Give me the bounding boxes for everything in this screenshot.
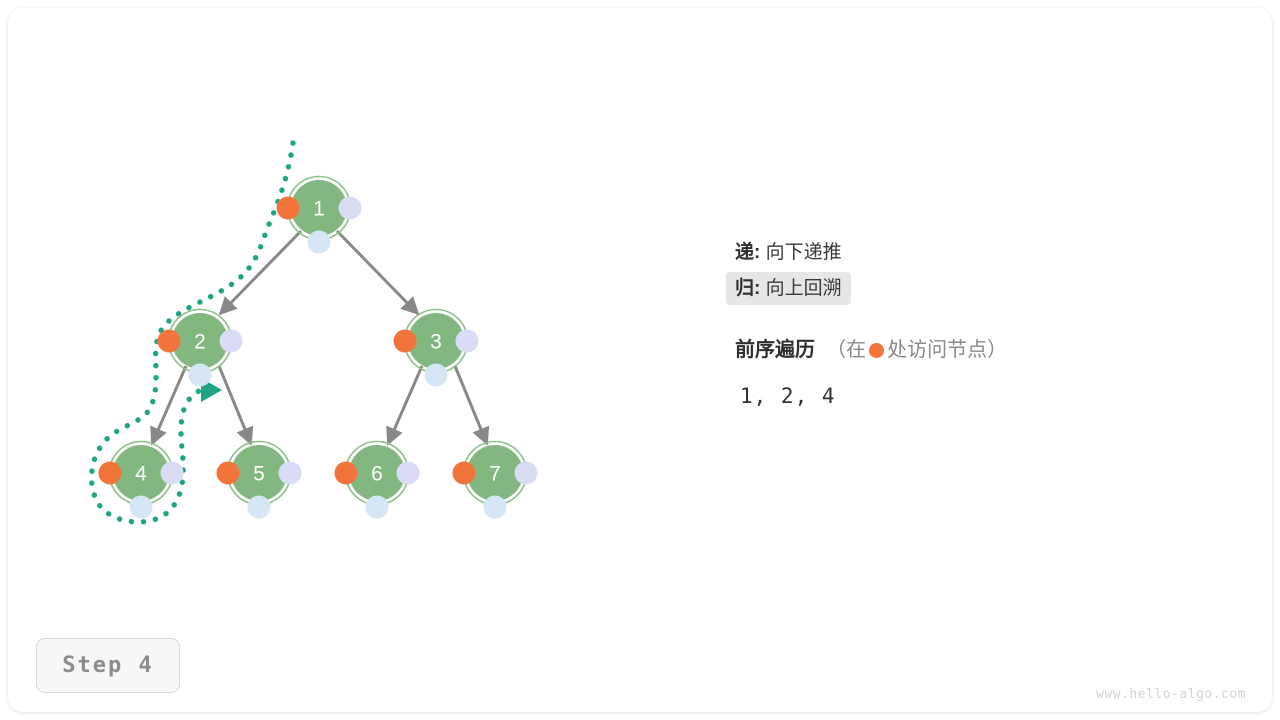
legend-panel: 递: 向下递推 归: 向上回溯 前序遍历 （在处访问节点） 1, 2, 4 <box>726 236 1246 408</box>
tree-node-4[interactable]: 4 <box>99 442 184 519</box>
tree-node-5[interactable]: 5 <box>217 442 302 519</box>
tree-node-3[interactable]: 3 <box>394 310 479 387</box>
edge-3-7 <box>455 366 487 444</box>
traversal-order-note-close: 处访问节点） <box>887 339 1007 361</box>
visit-dot <box>394 330 417 353</box>
edge-1-3 <box>337 231 418 314</box>
node-label: 4 <box>135 463 147 486</box>
diagram-stage: 1 2 3 <box>8 8 1272 712</box>
node-label: 7 <box>489 463 501 486</box>
right-slot-dot <box>515 462 538 485</box>
legend-recurse-value: 向下递推 <box>766 242 842 263</box>
bottom-slot-dot <box>425 364 448 387</box>
right-slot-dot <box>456 330 479 353</box>
legend-backtrack-value: 向上回溯 <box>766 278 842 299</box>
tree-node-6[interactable]: 6 <box>335 442 420 519</box>
node-label: 6 <box>371 463 383 486</box>
bottom-slot-dot <box>366 496 389 519</box>
step-badge: Step 4 <box>36 638 180 693</box>
visit-dot <box>158 330 181 353</box>
edge-3-6 <box>388 366 422 444</box>
bottom-slot-dot <box>130 496 153 519</box>
right-slot-dot <box>220 330 243 353</box>
visit-dot <box>453 462 476 485</box>
traversal-order-heading: 前序遍历 （在处访问节点） <box>726 340 1246 360</box>
visit-dot <box>335 462 358 485</box>
visit-marker-icon <box>869 343 884 358</box>
right-slot-dot <box>279 462 302 485</box>
visit-dot <box>99 462 122 485</box>
edge-2-5 <box>219 366 251 444</box>
legend-recurse: 递: 向下递推 <box>726 236 851 269</box>
legend-backtrack: 归: 向上回溯 <box>726 272 851 305</box>
bottom-slot-dot <box>484 496 507 519</box>
right-slot-dot <box>397 462 420 485</box>
visit-dot <box>217 462 240 485</box>
traversal-sequence: 1, 2, 4 <box>726 384 1246 408</box>
diagram-card: 1 2 3 <box>8 8 1272 712</box>
right-slot-dot <box>339 197 362 220</box>
legend-row-recurse: 递: 向下递推 <box>726 236 1246 269</box>
node-label: 5 <box>253 463 265 486</box>
legend-row-backtrack: 归: 向上回溯 <box>726 272 1246 305</box>
node-label: 2 <box>194 331 206 354</box>
visit-dot <box>277 197 300 220</box>
bottom-slot-dot <box>248 496 271 519</box>
site-watermark: www.hello-algo.com <box>1096 687 1246 702</box>
node-label: 1 <box>313 198 325 221</box>
legend-recurse-key: 递: <box>735 242 760 263</box>
bottom-slot-dot <box>308 231 331 254</box>
edge-1-2 <box>220 231 301 314</box>
traversal-order-title: 前序遍历 <box>735 339 815 361</box>
tree-node-7[interactable]: 7 <box>453 442 538 519</box>
node-label: 3 <box>430 331 442 354</box>
traversal-order-note-open: （在 <box>826 339 866 361</box>
legend-backtrack-key: 归: <box>735 278 760 299</box>
bottom-slot-dot <box>189 364 212 387</box>
right-slot-dot <box>161 462 184 485</box>
